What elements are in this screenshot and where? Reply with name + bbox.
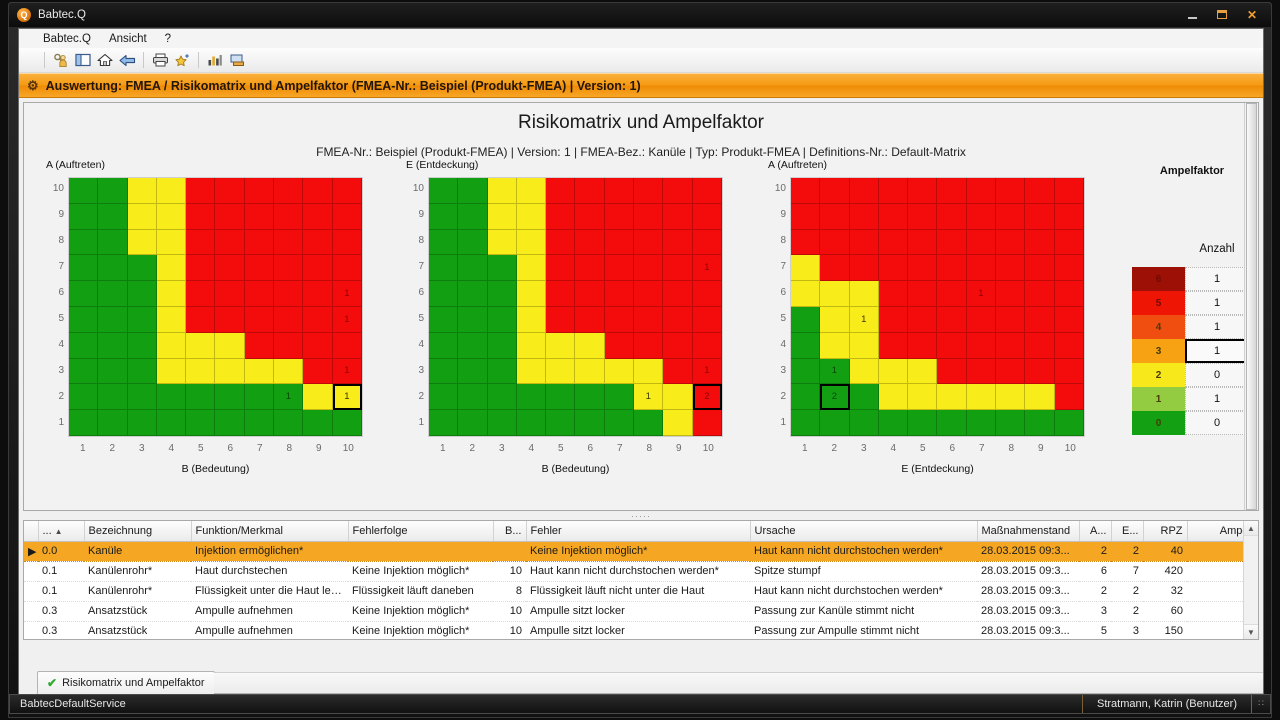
matrix-2-cell[interactable]: [634, 307, 663, 333]
user-key-icon[interactable]: [50, 50, 72, 71]
column-header-nr[interactable]: ...▲: [38, 521, 84, 541]
matrix-3-grid[interactable]: 1112: [790, 177, 1085, 437]
matrix-1-cell[interactable]: [215, 230, 244, 256]
matrix-3-cell[interactable]: [996, 230, 1025, 256]
column-header-massnahmen[interactable]: Maßnahmenstand: [977, 521, 1079, 541]
matrix-3-cell[interactable]: [850, 230, 879, 256]
matrix-3-cell[interactable]: [996, 359, 1025, 385]
matrix-1-cell[interactable]: [274, 255, 303, 281]
matrix-1-cell[interactable]: [157, 230, 186, 256]
legend-count-value[interactable]: 1: [1185, 267, 1249, 291]
matrix-1-cell[interactable]: [69, 333, 98, 359]
matrix-3-cell[interactable]: [791, 410, 820, 436]
matrix-3-cell[interactable]: 2: [820, 384, 849, 410]
matrix-2-cell[interactable]: [429, 307, 458, 333]
matrix-1-cell[interactable]: 1: [333, 307, 362, 333]
matrix-1-cell[interactable]: [303, 384, 332, 410]
matrix-2-cell[interactable]: [517, 333, 546, 359]
matrix-2-cell[interactable]: [693, 230, 722, 256]
matrix-3-cell[interactable]: [967, 178, 996, 204]
matrix-3-cell[interactable]: [1055, 230, 1084, 256]
cell-a[interactable]: 3: [1079, 601, 1111, 621]
cell-fehler[interactable]: Flüssigkeit läuft nicht unter die Haut: [526, 581, 750, 601]
matrix-3-cell[interactable]: [1055, 410, 1084, 436]
matrix-3-cell[interactable]: [1055, 204, 1084, 230]
column-header-a[interactable]: A...: [1079, 521, 1111, 541]
cell-bezeichnung[interactable]: Ansatzstück: [84, 601, 191, 621]
cell-b[interactable]: 10: [493, 601, 526, 621]
scroll-up-icon[interactable]: ▲: [1244, 521, 1258, 536]
minimize-button[interactable]: [1179, 5, 1205, 24]
matrix-2-cell[interactable]: [575, 384, 604, 410]
matrix-3-cell[interactable]: [908, 204, 937, 230]
matrix-1-cell[interactable]: [98, 384, 127, 410]
matrix-2-cell[interactable]: [458, 410, 487, 436]
matrix-3-cell[interactable]: [1025, 204, 1054, 230]
table-row[interactable]: ▶0.0KanüleInjektion ermöglichen*Keine In…: [24, 541, 1259, 561]
matrix-3-cell[interactable]: [967, 307, 996, 333]
matrix-3-cell[interactable]: [908, 281, 937, 307]
matrix-2-cell[interactable]: [488, 410, 517, 436]
matrix-1-cell[interactable]: [98, 230, 127, 256]
cell-fehlerfolge[interactable]: Flüssigkeit läuft daneben: [348, 581, 493, 601]
cell-massnahmen[interactable]: 28.03.2015 09:3...: [977, 581, 1079, 601]
matrix-3-cell[interactable]: [791, 178, 820, 204]
matrix-3-cell[interactable]: [879, 255, 908, 281]
column-header-bezeichnung[interactable]: Bezeichnung: [84, 521, 191, 541]
matrix-2-cell[interactable]: [458, 333, 487, 359]
matrix-2-cell[interactable]: [634, 178, 663, 204]
matrix-2-cell[interactable]: [663, 410, 692, 436]
matrix-3-cell[interactable]: [879, 307, 908, 333]
cell-massnahmen[interactable]: 28.03.2015 09:3...: [977, 601, 1079, 621]
matrix-1-cell[interactable]: [274, 204, 303, 230]
matrix-1-cell[interactable]: [186, 384, 215, 410]
matrix-1-cell[interactable]: [303, 281, 332, 307]
cell-fehler[interactable]: Ampulle sitzt locker: [526, 621, 750, 640]
matrix-2-cell[interactable]: [605, 255, 634, 281]
matrix-3-cell[interactable]: [791, 230, 820, 256]
matrix-3-cell[interactable]: [967, 359, 996, 385]
cell-bezeichnung[interactable]: Ansatzstück: [84, 621, 191, 640]
legend-count-value[interactable]: 1: [1185, 387, 1249, 411]
matrix-1-cell[interactable]: [69, 307, 98, 333]
matrix-1-cell[interactable]: [157, 307, 186, 333]
matrix-1-cell[interactable]: [274, 333, 303, 359]
cell-a[interactable]: 2: [1079, 581, 1111, 601]
matrix-1-cell[interactable]: [215, 333, 244, 359]
matrix-3-cell[interactable]: [850, 178, 879, 204]
matrix-2-cell[interactable]: [429, 384, 458, 410]
matrix-1-cell[interactable]: [274, 178, 303, 204]
legend-count-value[interactable]: 1: [1185, 291, 1249, 315]
matrix-2-cell[interactable]: [546, 384, 575, 410]
cell-bezeichnung[interactable]: Kanüle: [84, 541, 191, 561]
matrix-2-cell[interactable]: [517, 281, 546, 307]
matrix-2-cell[interactable]: [517, 204, 546, 230]
matrix-2-cell[interactable]: [429, 281, 458, 307]
matrix-2-cell[interactable]: [663, 255, 692, 281]
legend-row[interactable]: 11: [1132, 387, 1249, 411]
table-row[interactable]: 0.1Kanülenrohr*Flüssigkeit unter die Hau…: [24, 581, 1259, 601]
matrix-2-cell[interactable]: [575, 281, 604, 307]
matrix-1-cell[interactable]: [157, 281, 186, 307]
matrix-3-cell[interactable]: [850, 359, 879, 385]
cell-massnahmen[interactable]: 28.03.2015 09:3...: [977, 541, 1079, 561]
matrix-1-cell[interactable]: [157, 204, 186, 230]
matrix-1-cell[interactable]: [215, 359, 244, 385]
legend-row[interactable]: 00: [1132, 411, 1249, 435]
matrix-3-cell[interactable]: [996, 178, 1025, 204]
matrix-2-cell[interactable]: [634, 359, 663, 385]
matrix-1-cell[interactable]: [128, 307, 157, 333]
matrix-2-cell[interactable]: [605, 230, 634, 256]
matrix-1-cell[interactable]: [128, 359, 157, 385]
matrix-2-cell[interactable]: [546, 281, 575, 307]
matrix-1-cell[interactable]: [215, 255, 244, 281]
matrix-1-cell[interactable]: [186, 255, 215, 281]
matrix-3-cell[interactable]: [1055, 307, 1084, 333]
matrix-1-cell[interactable]: [98, 333, 127, 359]
matrix-3-cell[interactable]: [820, 410, 849, 436]
matrix-2-cell[interactable]: [575, 307, 604, 333]
cell-fehlerfolge[interactable]: Keine Injektion möglich*: [348, 561, 493, 581]
matrix-1-cell[interactable]: [333, 333, 362, 359]
cell-ursache[interactable]: Haut kann nicht durchstochen werden*: [750, 581, 977, 601]
cell-e[interactable]: 2: [1111, 581, 1143, 601]
matrix-1-cell[interactable]: [98, 255, 127, 281]
tab-risikomatrix-und-ampelfaktor[interactable]: ✔ Risikomatrix und Ampelfaktor: [37, 671, 215, 694]
column-header-rpz[interactable]: RPZ: [1143, 521, 1187, 541]
matrix-1-cell[interactable]: [274, 230, 303, 256]
matrix-3-cell[interactable]: [879, 281, 908, 307]
matrix-3-cell[interactable]: [996, 281, 1025, 307]
matrix-2-cell[interactable]: [488, 384, 517, 410]
matrix-2-cell[interactable]: [429, 333, 458, 359]
matrix-3-cell[interactable]: [937, 178, 966, 204]
table-row[interactable]: 0.1Kanülenrohr*Haut durchstechenKeine In…: [24, 561, 1259, 581]
matrix-1-cell[interactable]: [128, 204, 157, 230]
column-header-fehler[interactable]: Fehler: [526, 521, 750, 541]
cell-nr[interactable]: 0.0: [38, 541, 84, 561]
cell-ursache[interactable]: Passung zur Ampulle stimmt nicht: [750, 621, 977, 640]
window-icon[interactable]: [72, 50, 94, 71]
matrix-2-cell[interactable]: [693, 410, 722, 436]
matrix-1-cell[interactable]: [128, 281, 157, 307]
cell-funktion[interactable]: Flüssigkeit unter die Haut leiten: [191, 581, 348, 601]
matrix-2-cell[interactable]: [605, 307, 634, 333]
matrix-3-cell[interactable]: [820, 281, 849, 307]
matrix-3-cell[interactable]: [908, 384, 937, 410]
matrix-3-cell[interactable]: [908, 410, 937, 436]
matrix-1-cell[interactable]: [186, 333, 215, 359]
maximize-button[interactable]: [1209, 5, 1235, 24]
matrix-3-cell[interactable]: [1025, 255, 1054, 281]
matrix-3-cell[interactable]: [791, 384, 820, 410]
matrix-1-cell[interactable]: [245, 307, 274, 333]
matrix-2-cell[interactable]: [605, 410, 634, 436]
matrix-3-cell[interactable]: [937, 307, 966, 333]
legend-row[interactable]: 61: [1132, 267, 1249, 291]
report-scrollbar[interactable]: [1244, 103, 1258, 510]
matrix-1-cell[interactable]: 1: [333, 359, 362, 385]
matrix-3-cell[interactable]: [791, 359, 820, 385]
cell-rpz[interactable]: 420: [1143, 561, 1187, 581]
matrix-2-cell[interactable]: [634, 410, 663, 436]
matrix-1-cell[interactable]: [274, 307, 303, 333]
matrix-2-cell[interactable]: [605, 281, 634, 307]
matrix-3-cell[interactable]: [996, 333, 1025, 359]
matrix-2-cell[interactable]: [575, 204, 604, 230]
matrix-3-cell[interactable]: [908, 307, 937, 333]
matrix-1-cell[interactable]: [186, 230, 215, 256]
matrix-3-cell[interactable]: [820, 230, 849, 256]
panel-splitter[interactable]: ·····: [19, 511, 1263, 520]
matrix-1-cell[interactable]: [245, 281, 274, 307]
matrix-2-cell[interactable]: 1: [693, 359, 722, 385]
matrix-2-cell[interactable]: [488, 359, 517, 385]
matrix-3-cell[interactable]: [937, 359, 966, 385]
matrix-1-cell[interactable]: [303, 230, 332, 256]
cell-rpz[interactable]: 40: [1143, 541, 1187, 561]
cell-fehler[interactable]: Haut kann nicht durchstochen werden*: [526, 561, 750, 581]
matrix-3-cell[interactable]: [1055, 384, 1084, 410]
matrix-1-grid[interactable]: 11111: [68, 177, 363, 437]
matrix-1-cell[interactable]: [215, 384, 244, 410]
matrix-3-cell[interactable]: [1055, 178, 1084, 204]
matrix-1-cell[interactable]: [245, 255, 274, 281]
matrix-3-cell[interactable]: [967, 204, 996, 230]
legend-count-value[interactable]: 0: [1185, 411, 1249, 435]
matrix-3-cell[interactable]: [1025, 230, 1054, 256]
matrix-1-cell[interactable]: [157, 333, 186, 359]
matrix-2-cell[interactable]: [517, 255, 546, 281]
matrix-1-cell[interactable]: [98, 178, 127, 204]
cell-funktion[interactable]: Injektion ermöglichen*: [191, 541, 348, 561]
matrix-3-cell[interactable]: [1025, 178, 1054, 204]
matrix-2-cell[interactable]: [605, 384, 634, 410]
matrix-1-cell[interactable]: [69, 410, 98, 436]
cell-massnahmen[interactable]: 28.03.2015 09:3...: [977, 561, 1079, 581]
matrix-3-cell[interactable]: [908, 333, 937, 359]
menu-item-ansicht[interactable]: Ansicht: [109, 33, 147, 45]
matrix-2-cell[interactable]: [663, 178, 692, 204]
matrix-2-cell[interactable]: [605, 204, 634, 230]
matrix-2-cell[interactable]: [634, 255, 663, 281]
matrix-3-cell[interactable]: [791, 255, 820, 281]
cell-fehlerfolge[interactable]: Keine Injektion möglich*: [348, 621, 493, 640]
matrix-2-cell[interactable]: [693, 178, 722, 204]
matrix-2-cell[interactable]: [458, 204, 487, 230]
matrix-3-cell[interactable]: [1025, 333, 1054, 359]
matrix-2-cell[interactable]: [663, 230, 692, 256]
matrix-3-cell[interactable]: [1025, 384, 1054, 410]
matrix-3-cell[interactable]: 1: [850, 307, 879, 333]
legend-row[interactable]: 41: [1132, 315, 1249, 339]
matrix-2-cell[interactable]: [546, 307, 575, 333]
cell-e[interactable]: 7: [1111, 561, 1143, 581]
matrix-3-cell[interactable]: 1: [820, 359, 849, 385]
matrix-2-cell[interactable]: [634, 204, 663, 230]
matrix-3-cell[interactable]: [879, 410, 908, 436]
matrix-1-cell[interactable]: [303, 255, 332, 281]
matrix-1-cell[interactable]: [98, 307, 127, 333]
matrix-2-cell[interactable]: [517, 410, 546, 436]
column-header-b[interactable]: B...: [493, 521, 526, 541]
cell-e[interactable]: 2: [1111, 541, 1143, 561]
cell-fehler[interactable]: Ampulle sitzt locker: [526, 601, 750, 621]
menu-item-help[interactable]: ?: [165, 33, 171, 45]
matrix-1-cell[interactable]: [186, 204, 215, 230]
matrix-1-cell[interactable]: [98, 410, 127, 436]
back-arrow-icon[interactable]: [116, 50, 138, 71]
matrix-1-cell[interactable]: [157, 178, 186, 204]
matrix-2-cell[interactable]: [575, 178, 604, 204]
export-icon[interactable]: [226, 50, 248, 71]
cell-massnahmen[interactable]: 28.03.2015 09:3...: [977, 621, 1079, 640]
matrix-3-cell[interactable]: [937, 204, 966, 230]
matrix-1-cell[interactable]: [69, 230, 98, 256]
matrix-1-cell[interactable]: [215, 281, 244, 307]
report-scroll-thumb[interactable]: [1246, 103, 1257, 510]
column-header-funktion[interactable]: Funktion/Merkmal: [191, 521, 348, 541]
matrix-3-cell[interactable]: [850, 281, 879, 307]
matrix-2-cell[interactable]: [546, 255, 575, 281]
matrix-2-cell[interactable]: [546, 230, 575, 256]
matrix-1-cell[interactable]: [69, 281, 98, 307]
matrix-3-cell[interactable]: [967, 410, 996, 436]
matrix-3-cell[interactable]: [850, 410, 879, 436]
matrix-2-cell[interactable]: [663, 359, 692, 385]
matrix-3-cell[interactable]: [967, 333, 996, 359]
matrix-3-cell[interactable]: 1: [967, 281, 996, 307]
cell-fehlerfolge[interactable]: Keine Injektion möglich*: [348, 601, 493, 621]
matrix-3-cell[interactable]: [879, 204, 908, 230]
matrix-3-cell[interactable]: [791, 333, 820, 359]
cell-b[interactable]: 8: [493, 581, 526, 601]
matrix-2-cell[interactable]: [429, 230, 458, 256]
matrix-2-cell[interactable]: [634, 230, 663, 256]
matrix-1-cell[interactable]: 1: [333, 281, 362, 307]
matrix-3-cell[interactable]: [820, 204, 849, 230]
matrix-1-cell[interactable]: [215, 410, 244, 436]
matrix-3-cell[interactable]: [1025, 359, 1054, 385]
matrix-1-cell[interactable]: [333, 178, 362, 204]
cell-funktion[interactable]: Ampulle aufnehmen: [191, 601, 348, 621]
matrix-3-cell[interactable]: [1025, 410, 1054, 436]
matrix-1-cell[interactable]: [69, 384, 98, 410]
matrix-2-cell[interactable]: 1: [634, 384, 663, 410]
matrix-3-cell[interactable]: [820, 333, 849, 359]
matrix-1-cell[interactable]: [186, 178, 215, 204]
matrix-2-cell[interactable]: [663, 281, 692, 307]
matrix-3-cell[interactable]: [820, 255, 849, 281]
matrix-2-cell[interactable]: [693, 333, 722, 359]
matrix-1-cell[interactable]: [274, 359, 303, 385]
cell-bezeichnung[interactable]: Kanülenrohr*: [84, 581, 191, 601]
matrix-2-cell[interactable]: [546, 333, 575, 359]
column-header-e[interactable]: E...: [1111, 521, 1143, 541]
matrix-2-cell[interactable]: [458, 255, 487, 281]
matrix-1-cell[interactable]: [98, 281, 127, 307]
matrix-1-cell[interactable]: [69, 178, 98, 204]
cell-nr[interactable]: 0.3: [38, 621, 84, 640]
column-header-fehlerfolge[interactable]: Fehlerfolge: [348, 521, 493, 541]
matrix-1-cell[interactable]: [274, 410, 303, 436]
matrix-3-cell[interactable]: [1055, 359, 1084, 385]
matrix-3-cell[interactable]: [937, 281, 966, 307]
matrix-1-cell[interactable]: [128, 333, 157, 359]
matrix-3-cell[interactable]: [908, 359, 937, 385]
matrix-1-cell[interactable]: [245, 359, 274, 385]
matrix-1-cell[interactable]: [303, 307, 332, 333]
matrix-1-cell[interactable]: [186, 410, 215, 436]
matrix-3-cell[interactable]: [937, 384, 966, 410]
legend-row[interactable]: 20: [1132, 363, 1249, 387]
matrix-3-cell[interactable]: [791, 204, 820, 230]
scroll-down-icon[interactable]: ▼: [1244, 624, 1258, 639]
matrix-2-cell[interactable]: [546, 359, 575, 385]
cell-b[interactable]: 10: [493, 621, 526, 640]
matrix-3-cell[interactable]: [791, 307, 820, 333]
matrix-3-cell[interactable]: [850, 255, 879, 281]
matrix-1-cell[interactable]: [333, 410, 362, 436]
grid-vertical-scrollbar[interactable]: ▲ ▼: [1243, 521, 1258, 639]
matrix-2-cell[interactable]: [517, 307, 546, 333]
menu-item-babtec[interactable]: Babtec.Q: [43, 33, 91, 45]
matrix-1-cell[interactable]: [157, 384, 186, 410]
matrix-2-cell[interactable]: [663, 204, 692, 230]
matrix-1-cell[interactable]: [215, 178, 244, 204]
cell-rpz[interactable]: 60: [1143, 601, 1187, 621]
matrix-1-cell[interactable]: [128, 384, 157, 410]
table-row[interactable]: 0.3AnsatzstückAmpulle aufnehmenKeine Inj…: [24, 621, 1259, 640]
matrix-1-cell[interactable]: [69, 359, 98, 385]
matrix-3-cell[interactable]: [937, 230, 966, 256]
matrix-2-cell[interactable]: 2: [693, 384, 722, 410]
cell-a[interactable]: 6: [1079, 561, 1111, 581]
cell-ursache[interactable]: Passung zur Kanüle stimmt nicht: [750, 601, 977, 621]
matrix-1-cell[interactable]: [186, 359, 215, 385]
cell-fehlerfolge[interactable]: [348, 541, 493, 561]
matrix-2-cell[interactable]: [458, 281, 487, 307]
matrix-2-cell[interactable]: [546, 410, 575, 436]
cell-nr[interactable]: 0.1: [38, 581, 84, 601]
matrix-3-cell[interactable]: [937, 255, 966, 281]
matrix-2-cell[interactable]: [693, 307, 722, 333]
cell-rpz[interactable]: 32: [1143, 581, 1187, 601]
matrix-2-cell[interactable]: [429, 178, 458, 204]
matrix-2-cell[interactable]: [693, 281, 722, 307]
cell-ursache[interactable]: Haut kann nicht durchstochen werden*: [750, 541, 977, 561]
cell-a[interactable]: 5: [1079, 621, 1111, 640]
matrix-1-cell[interactable]: [128, 230, 157, 256]
matrix-3-cell[interactable]: [879, 359, 908, 385]
matrix-3-cell[interactable]: [850, 204, 879, 230]
cell-funktion[interactable]: Haut durchstechen: [191, 561, 348, 581]
matrix-1-cell[interactable]: [128, 410, 157, 436]
matrix-1-cell[interactable]: 1: [333, 384, 362, 410]
matrix-1-cell[interactable]: [274, 281, 303, 307]
matrix-3-cell[interactable]: [908, 178, 937, 204]
matrix-3-cell[interactable]: [820, 178, 849, 204]
matrix-3-cell[interactable]: [937, 410, 966, 436]
cell-a[interactable]: 2: [1079, 541, 1111, 561]
matrix-1-cell[interactable]: [245, 410, 274, 436]
legend-count-value[interactable]: 1: [1185, 339, 1249, 363]
legend-row[interactable]: 51: [1132, 291, 1249, 315]
matrix-1-cell[interactable]: [303, 178, 332, 204]
